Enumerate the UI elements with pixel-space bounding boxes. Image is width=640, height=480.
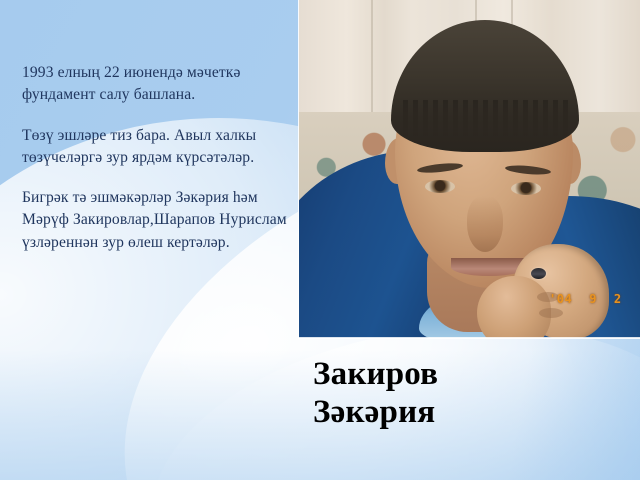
slide-body-text: 1993 елның 22 июнендә мәчеткә фундамент … xyxy=(22,62,290,254)
date-stamp-day: 2 xyxy=(614,292,622,306)
photo-subject-eye-right xyxy=(511,182,541,195)
body-paragraph-3: Бигрәк тә эшмәкәрләр Зәкәрия һәм Мәрүф З… xyxy=(22,187,290,254)
date-stamp-month: 9 xyxy=(589,292,597,306)
presentation-slide: 1993 елның 22 июнендә мәчеткә фундамент … xyxy=(0,0,640,480)
body-paragraph-2: Төзү эшләре тиз бара. Авыл халкы төзүчел… xyxy=(22,125,290,170)
photo-content: '04 9 2 xyxy=(299,0,640,338)
photo-subject-nose xyxy=(467,196,503,252)
photo-bottom-border xyxy=(299,337,640,338)
photo-subject-eye-left xyxy=(425,180,455,193)
body-paragraph-1: 1993 елның 22 июнендә мәчеткә фундамент … xyxy=(22,62,290,107)
subject-surname: Закиров xyxy=(313,356,438,394)
subject-givenname: Зәкәрия xyxy=(313,394,438,432)
photo-subject-hair-fringe xyxy=(403,100,571,136)
photo-subject-ring xyxy=(531,268,546,279)
photo-subject-hand-lower xyxy=(477,276,551,338)
photo-subject-knuckle xyxy=(539,308,563,318)
subject-name-caption: Закиров Зәкәрия xyxy=(313,356,438,431)
photo-date-stamp: '04 9 2 xyxy=(549,292,622,306)
portrait-photo: '04 9 2 xyxy=(299,0,640,338)
date-stamp-year: '04 xyxy=(549,292,572,306)
